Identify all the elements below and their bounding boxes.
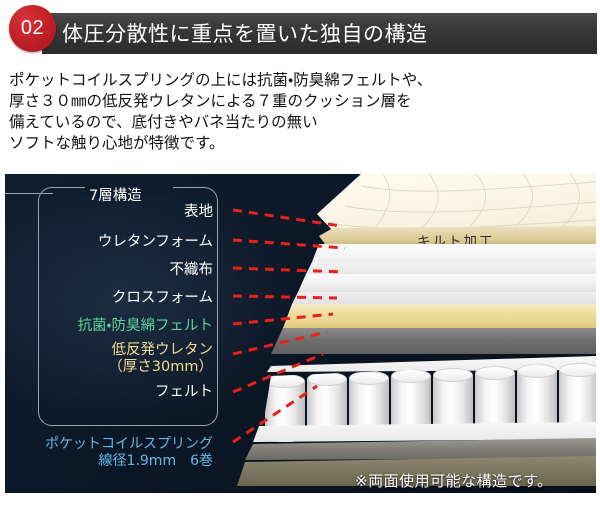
section-header: 体圧分散性に重点を置いた独自の構造 02 xyxy=(0,0,600,62)
mattress-structure-diagram: キルト加工 7層構造 表地 ウレタンフォーム xyxy=(5,174,596,493)
layer-label-low-rebound-urethane: 低反発ウレタン （厚さ30mm） xyxy=(108,342,213,375)
lead-line: 厚さ３０㎜の低反発ウレタンによる７重のクッション層を xyxy=(9,91,589,112)
layer-label-cross-foam: クロスフォーム xyxy=(112,290,213,307)
layer-label-urethane-foam: ウレタンフォーム xyxy=(98,234,213,251)
bracket-lead-line xyxy=(5,193,53,194)
layer-label-low-rebound-line2: （厚さ30mm） xyxy=(108,359,213,376)
layer-label-low-rebound-line1: 低反発ウレタン xyxy=(108,342,213,359)
lead-paragraph: ポケットコイルスプリングの上には抗菌・防臭綿フェルトや、 厚さ３０㎜の低反発ウレ… xyxy=(9,70,589,154)
layer-label-column: 7層構造 表地 ウレタンフォーム 不織布 クロスフォーム 抗菌・防臭綿フェルト … xyxy=(5,174,233,493)
layer-label-antibacterial-felt: 抗菌・防臭綿フェルト xyxy=(78,318,213,335)
lead-line: 備えているので、底付きやバネ当たりの無い xyxy=(9,112,589,133)
layer-label-felt: フェルト xyxy=(155,384,213,401)
seven-layer-bracket-label: 7層構造 xyxy=(89,184,142,205)
layer-label-pocket-coil-line2: 線径1.9mm 6巻 xyxy=(45,453,213,470)
layer-label-pocket-coil-line1: ポケットコイルスプリング xyxy=(45,436,213,453)
lead-line: ソフトな触り心地が特徴です。 xyxy=(9,133,589,154)
both-sides-footnote: ※両面使用可能な構造です。 xyxy=(355,470,553,491)
layer-label-pocket-coil: ポケットコイルスプリング 線径1.9mm 6巻 xyxy=(45,436,213,469)
layer-label-top-fabric: 表地 xyxy=(184,204,213,221)
step-badge: 02 xyxy=(9,5,56,52)
layer-label-nonwoven: 不織布 xyxy=(170,262,214,279)
lead-line: ポケットコイルスプリングの上には抗菌・防臭綿フェルトや、 xyxy=(9,70,589,91)
step-badge-number: 02 xyxy=(9,5,56,52)
page-title: 体圧分散性に重点を置いた独自の構造 xyxy=(62,16,582,52)
